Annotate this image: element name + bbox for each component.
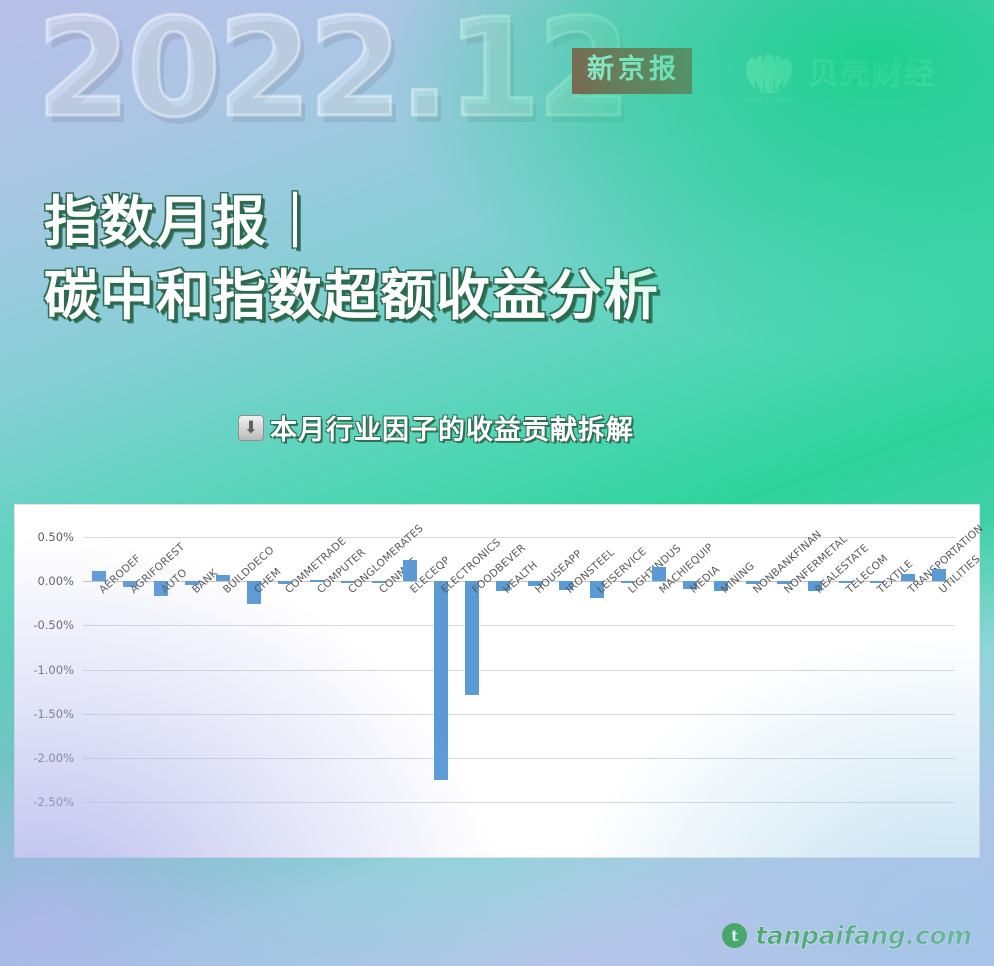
poster-header: 2022.12 新京报 BEIKE | CAIJ [0, 0, 994, 175]
down-arrow-icon: ⬇ [238, 415, 264, 441]
bar-chart-plot-area: 0.50%0.00%-0.50%-1.00%-1.50%-2.00%-2.50%… [83, 524, 955, 824]
bar [434, 581, 448, 780]
subtitle-block: ⬇ 本月行业因子的收益贡献拆解 [238, 408, 634, 447]
tp-mark-icon: t [722, 923, 747, 948]
chart-card: 0.50%0.00%-0.50%-1.00%-1.50%-2.00%-2.50%… [14, 504, 980, 858]
title-block: 指数月报｜ 碳中和指数超额收益分析 [44, 185, 864, 333]
gridline: -1.00% [83, 670, 955, 671]
y-axis-tick-label: -1.50% [33, 707, 74, 721]
bar [403, 560, 417, 581]
brand-sub-label: BEIKE | CAIJING [746, 97, 794, 103]
poster-background: 2022.12 新京报 BEIKE | CAIJ [0, 0, 994, 966]
site-watermark: t tanpaifang.com [722, 921, 972, 950]
y-axis-tick-label: 0.50% [37, 530, 74, 544]
x-axis-tick-label: MINING [719, 560, 757, 596]
shell-icon: BEIKE | CAIJING [744, 48, 794, 94]
y-axis-tick-label: 0.00% [37, 574, 74, 588]
publisher-badge: 新京报 [572, 48, 692, 93]
y-axis-tick-label: -0.50% [33, 618, 74, 632]
bar [465, 581, 479, 695]
logo-row: 新京报 BEIKE | CAIJING [572, 48, 936, 94]
gridline: -2.50% [83, 802, 955, 803]
y-axis-tick-label: -1.00% [33, 663, 74, 677]
year-month-watermark: 2022.12 [36, 0, 627, 144]
site-name-label: tanpaifang.com [755, 921, 972, 950]
brand-logo: BEIKE | CAIJING 贝壳财经 [744, 48, 936, 94]
subtitle-label: 本月行业因子的收益贡献拆解 [270, 408, 634, 447]
gridline: -1.50% [83, 714, 955, 715]
gridline: -0.50% [83, 625, 955, 626]
y-axis-tick-label: -2.00% [33, 751, 74, 765]
y-axis-tick-label: -2.50% [33, 795, 74, 809]
gridline: -2.00% [83, 758, 955, 759]
brand-name-label: 贝壳财经 [808, 49, 936, 93]
gridline: 0.50% [83, 537, 955, 538]
headline-line-1: 指数月报｜ [44, 185, 864, 259]
headline-line-2: 碳中和指数超额收益分析 [44, 259, 864, 333]
